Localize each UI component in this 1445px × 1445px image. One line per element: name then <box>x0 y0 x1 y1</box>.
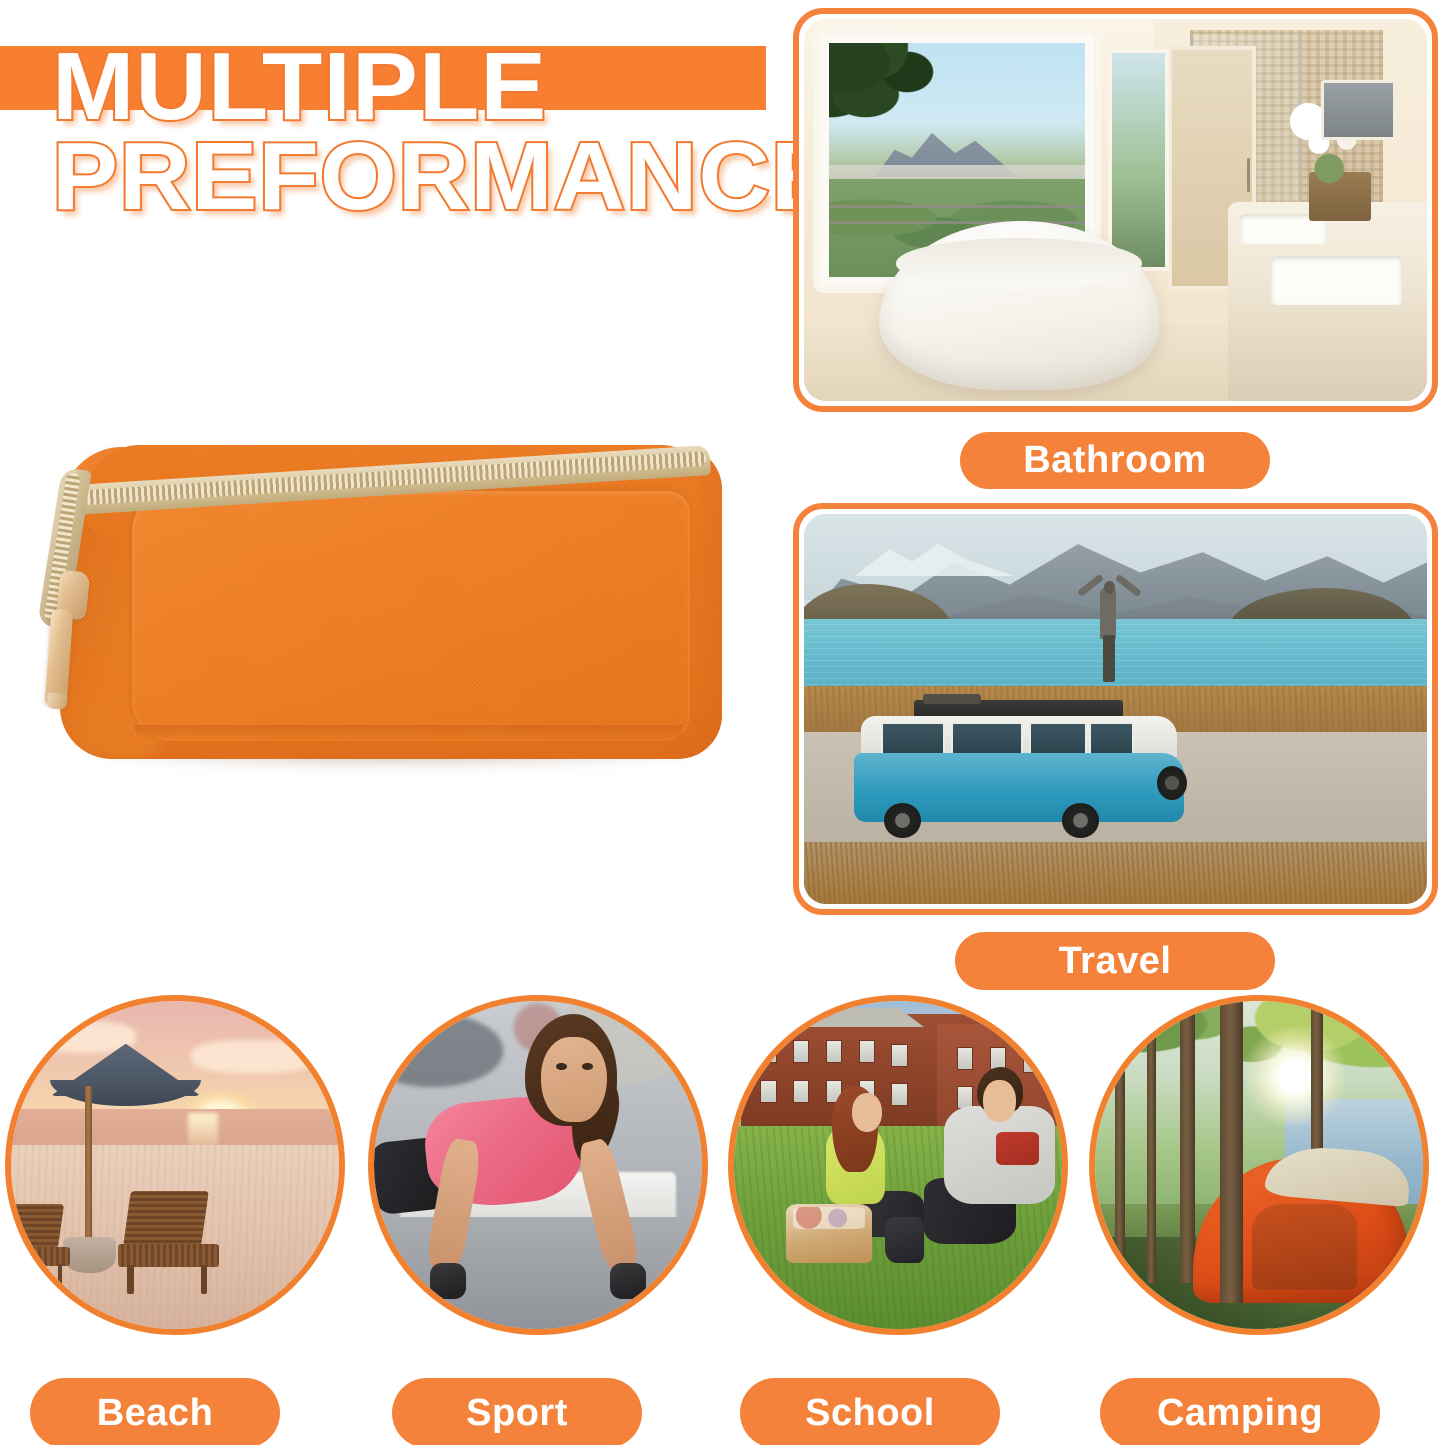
scene-photo-travel <box>804 514 1427 904</box>
traveler-head <box>1104 581 1115 593</box>
scene-label-beach[interactable]: Beach <box>30 1378 280 1445</box>
tree-trunk <box>1147 1001 1156 1283</box>
headline-line-2: PREFORMANCE <box>52 132 855 222</box>
scene-card-bathroom[interactable] <box>793 8 1438 412</box>
chair-back <box>11 1204 64 1248</box>
athlete-glove-left <box>430 1263 466 1299</box>
beach-scene <box>11 1001 339 1329</box>
pencil-case-illustration <box>34 425 734 815</box>
scene-circle-school[interactable] <box>728 995 1068 1335</box>
athlete-eye-right <box>582 1063 592 1070</box>
student-bag <box>786 1204 871 1263</box>
scene-photo-bathroom <box>804 19 1427 401</box>
traveler-legs <box>1103 635 1115 682</box>
building-window <box>826 1040 842 1063</box>
athlete-glove-right <box>610 1263 646 1299</box>
tree-trunk <box>1115 1001 1125 1283</box>
scene-photo-camping <box>1095 1001 1423 1329</box>
page-title: MULTIPLEPREFORMANCE <box>52 42 855 222</box>
scene-label-travel[interactable]: Travel <box>955 932 1275 990</box>
view-foreground-foliage <box>829 43 962 141</box>
building-window <box>891 1044 907 1067</box>
scene-card-travel[interactable] <box>793 503 1438 915</box>
athlete-eye-left <box>556 1063 566 1070</box>
scene-label-camping[interactable]: Camping <box>1100 1378 1380 1445</box>
building-window <box>859 1040 875 1063</box>
scene-circle-sport[interactable] <box>368 995 708 1335</box>
scene-circle-beach[interactable] <box>5 995 345 1335</box>
chair-back <box>123 1191 209 1246</box>
sport-scene <box>374 1001 702 1329</box>
camping-scene <box>1095 1001 1423 1329</box>
scene-photo-sport <box>374 1001 702 1329</box>
scene-label-sport[interactable]: Sport <box>392 1378 642 1445</box>
chair-seat <box>118 1244 218 1267</box>
beach-cloud-right <box>191 1040 316 1073</box>
building-window <box>891 1083 907 1106</box>
van-rear-tire <box>884 803 921 837</box>
product-marketing-page: MULTIPLEPREFORMANCE <box>0 0 1445 1445</box>
van-roof-rack <box>914 700 1123 717</box>
building-window <box>760 1040 776 1063</box>
sun-flare <box>1246 1027 1344 1125</box>
camper-van <box>854 697 1190 853</box>
beach-lounge-chair-right <box>116 1191 228 1296</box>
school-scene <box>734 1001 1062 1329</box>
bathroom-scene <box>804 19 1427 401</box>
sun-reflection <box>188 1113 218 1149</box>
wall-mounted-tv <box>1321 80 1396 139</box>
gym-floor <box>374 1217 702 1329</box>
chair-leg-right <box>58 1264 63 1288</box>
zipper-pull-tip <box>46 692 67 709</box>
student-boot <box>885 1217 924 1263</box>
hoodie-graphic <box>996 1132 1039 1165</box>
sun-ray <box>1279 1060 1281 1112</box>
scene-label-school[interactable]: School <box>740 1378 1000 1445</box>
pouch-front-panel <box>132 491 690 741</box>
pouch-bottom-seam <box>134 725 682 739</box>
van-window-3 <box>1029 722 1087 757</box>
chair-leg-left <box>127 1265 134 1294</box>
traveler-torso <box>1100 588 1116 639</box>
building-window <box>760 1080 776 1103</box>
building-window <box>957 1047 973 1070</box>
tree-trunk-foreground <box>1220 1001 1243 1303</box>
scene-circle-camping[interactable] <box>1089 995 1429 1335</box>
beach-umbrella-rim <box>50 1080 201 1106</box>
chair-leg-right <box>201 1265 208 1294</box>
van-window-4 <box>1089 722 1133 757</box>
beach-lounge-chair-left <box>11 1204 77 1289</box>
student-girl-face <box>852 1093 882 1132</box>
beach-umbrella-pole <box>85 1086 92 1250</box>
scene-photo-school <box>734 1001 1062 1329</box>
bathroom-side-window <box>1112 53 1165 267</box>
travel-scene <box>804 514 1427 904</box>
van-spare-tire <box>1157 766 1187 800</box>
scene-photo-beach <box>11 1001 339 1329</box>
building-window <box>1023 1050 1039 1073</box>
beach-sea <box>11 1109 339 1148</box>
tree-trunk <box>1180 1001 1195 1283</box>
tent-door <box>1252 1204 1357 1289</box>
view-railing <box>829 205 1085 208</box>
van-front-tire <box>1062 803 1099 837</box>
student-boy-face <box>983 1080 1016 1123</box>
van-window-2 <box>951 722 1022 757</box>
vanity-sink-front <box>1271 256 1402 306</box>
scene-label-bathroom[interactable]: Bathroom <box>960 432 1270 489</box>
building-window <box>793 1040 809 1063</box>
van-window-1 <box>881 722 946 757</box>
athlete-face <box>541 1037 607 1122</box>
chair-seat <box>11 1247 70 1266</box>
building-window <box>793 1080 809 1103</box>
product-image <box>34 425 734 815</box>
campus-roof <box>780 1008 924 1028</box>
